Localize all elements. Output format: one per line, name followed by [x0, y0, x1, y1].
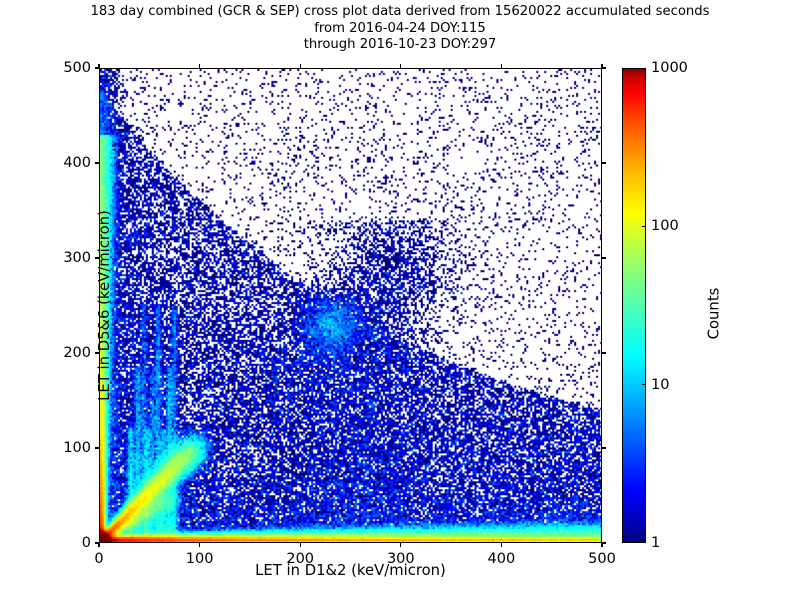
- y-axis-tick-right: [602, 162, 606, 163]
- x-axis-tick: [400, 543, 401, 547]
- density-scatter-plot: [100, 69, 601, 542]
- y-axis-tick-label: 0: [21, 535, 91, 551]
- colorbar-tick-label: 1000: [651, 60, 688, 76]
- x-axis-tick: [300, 543, 301, 547]
- y-axis-tick-label: 300: [21, 250, 91, 266]
- colorbar-label: Counts: [706, 224, 723, 404]
- colorbar-tick-label: 10: [651, 377, 669, 393]
- y-axis-tick-right: [602, 67, 606, 68]
- y-axis-tick-right: [602, 542, 606, 543]
- plot-area: [99, 68, 602, 543]
- figure-canvas: 183 day combined (GCR & SEP) cross plot …: [0, 0, 800, 600]
- colorbar-tick-label: 100: [651, 218, 679, 234]
- x-axis-tick: [199, 543, 200, 547]
- colorbar-tick-label: 1: [651, 535, 660, 551]
- y-axis-tick-right: [602, 352, 606, 353]
- x-axis-tick: [601, 543, 602, 547]
- x-axis-label: LET in D1&2 (keV/micron): [99, 562, 602, 579]
- title-line-2: from 2016-04-24 DOY:115: [0, 21, 800, 38]
- plot-title: 183 day combined (GCR & SEP) cross plot …: [0, 4, 800, 54]
- title-line-3: through 2016-10-23 DOY:297: [0, 37, 800, 54]
- x-axis-tick-top: [501, 64, 502, 68]
- colorbar-tick: [642, 384, 646, 385]
- y-axis-tick-right: [602, 447, 606, 448]
- y-axis-tick-label: 500: [21, 60, 91, 76]
- y-axis-tick-label: 200: [21, 345, 91, 361]
- colorbar: [622, 68, 646, 543]
- x-axis-tick-top: [199, 64, 200, 68]
- y-axis-tick-right: [602, 257, 606, 258]
- x-axis-tick: [501, 543, 502, 547]
- title-line-1: 183 day combined (GCR & SEP) cross plot …: [0, 4, 800, 21]
- colorbar-tick: [642, 226, 646, 227]
- x-axis-tick-top: [400, 64, 401, 68]
- y-axis-tick-label: 100: [21, 440, 91, 456]
- x-axis-tick-top: [300, 64, 301, 68]
- colorbar-gradient: [623, 69, 645, 542]
- x-axis-tick-top: [601, 64, 602, 68]
- y-axis-tick-label: 400: [21, 155, 91, 171]
- y-axis-label: LET in D5&6 (keV/micron): [96, 68, 113, 543]
- x-axis-tick: [98, 543, 99, 547]
